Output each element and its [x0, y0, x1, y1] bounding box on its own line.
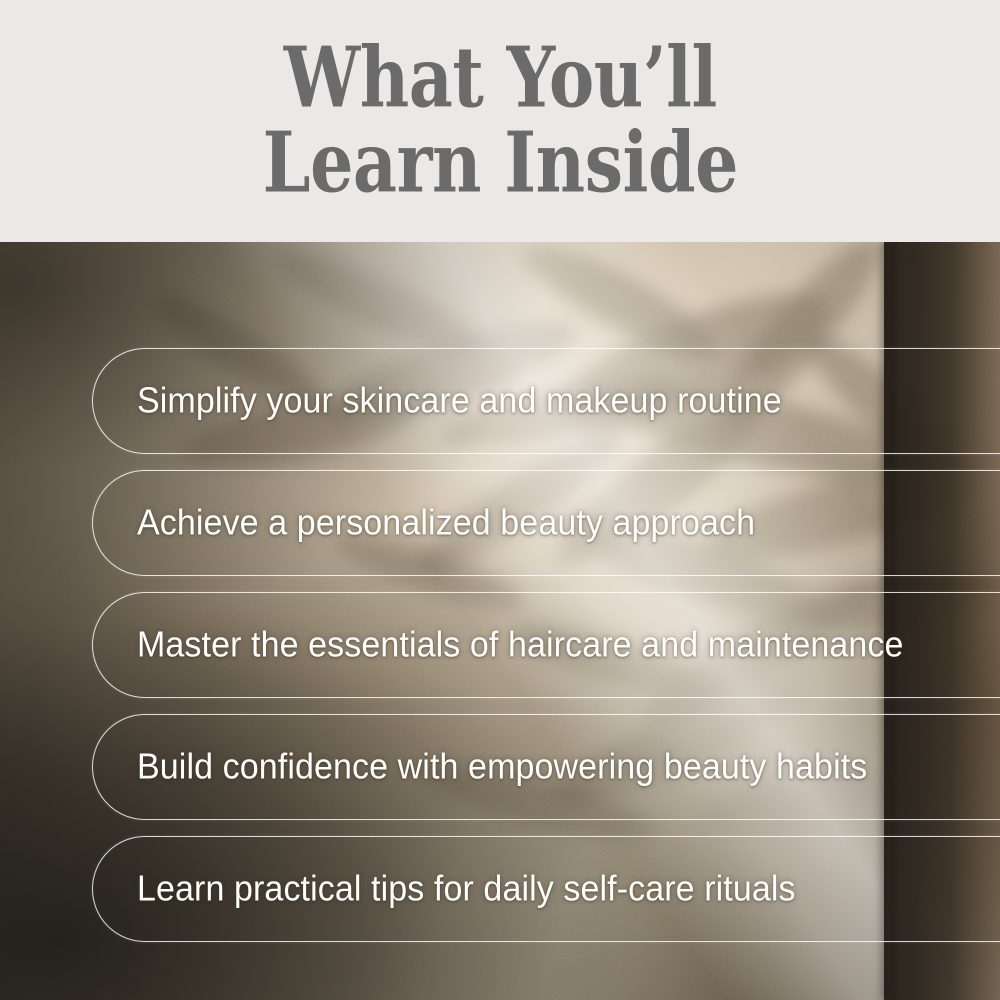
list-item-label: Learn practical tips for daily self-care… — [137, 868, 796, 909]
list-item[interactable]: Achieve a personalized beauty approach — [92, 470, 1000, 576]
list-item[interactable]: Simplify your skincare and makeup routin… — [92, 348, 1000, 454]
list-item-label: Master the essentials of haircare and ma… — [137, 624, 904, 665]
photo-background: Simplify your skincare and makeup routin… — [0, 242, 1000, 1000]
header-band: What You’ll Learn Inside — [0, 0, 1000, 242]
page-title-line-2: Learn Inside — [262, 124, 737, 203]
page-title-line-1: What You’ll — [262, 39, 737, 118]
list-item-label: Simplify your skincare and makeup routin… — [137, 380, 782, 421]
benefits-list: Simplify your skincare and makeup routin… — [92, 348, 1000, 942]
poster-canvas: What You’ll Learn Inside — [0, 0, 1000, 1000]
list-item-label: Build confidence with empowering beauty … — [137, 746, 867, 787]
list-item[interactable]: Build confidence with empowering beauty … — [92, 714, 1000, 820]
list-item[interactable]: Master the essentials of haircare and ma… — [92, 592, 1000, 698]
page-title: What You’ll Learn Inside — [262, 39, 737, 203]
list-item[interactable]: Learn practical tips for daily self-care… — [92, 836, 1000, 942]
list-item-label: Achieve a personalized beauty approach — [137, 502, 755, 543]
